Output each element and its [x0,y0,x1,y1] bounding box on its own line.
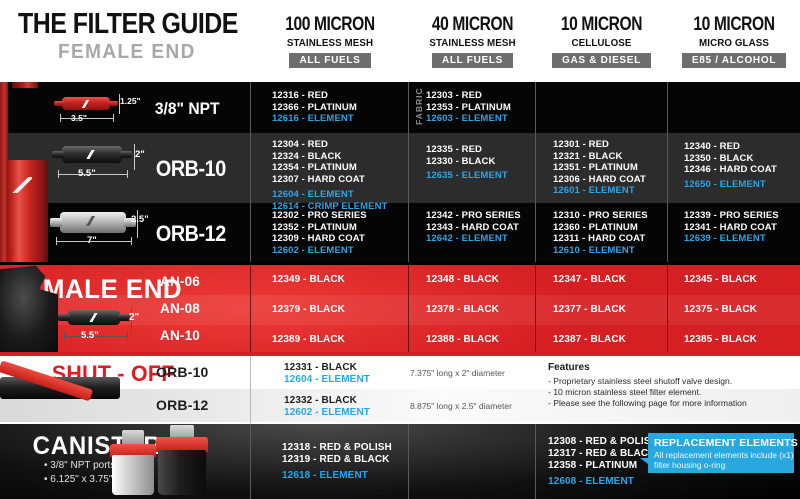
feature-item: - Proprietary stainless steel shutoff va… [548,376,732,386]
part-number: 12310 - PRO SERIES [553,210,648,222]
part-number: 12346 - HARD COAT [684,164,777,176]
column-divider [408,82,409,262]
part-number: 12388 - BLACK [426,334,512,346]
column-micron-label: 10 MICRON [548,14,655,36]
part-number: 12352 - PLATINUM [272,222,367,234]
cell-100micron-male: 12349 - BLACK 12379 - BLACK 12389 - BLAC… [272,274,358,352]
part-number-element: 12616 - ELEMENT [272,113,357,125]
size-label-orb12: 8.875" long x 2.5" diameter [410,401,512,411]
part-number-element: 12601 - ELEMENT [553,185,646,197]
part-number: 12349 - BLACK [272,274,358,286]
part-number: 12332 - BLACK [284,395,370,407]
dimension-length-label: 7" [87,235,97,246]
dimension-length-label: 5.5" [78,168,96,179]
filter-nipple-image [50,218,62,227]
column-divider [250,356,251,424]
part-number: 12347 - BLACK [553,274,639,286]
cell-40micron-orb10: 12335 - RED 12330 - BLACK 12635 - ELEMEN… [426,144,508,182]
canister-polish-body-image [112,455,154,495]
part-number: 12353 - PLATINUM [426,102,511,114]
part-number: 12345 - BLACK [684,274,770,286]
part-number: 12375 - BLACK [684,304,770,316]
column-divider [535,265,536,352]
part-number-element: 12642 - ELEMENT [426,233,521,245]
part-number: 12385 - BLACK [684,334,770,346]
part-number-element: 12650 - ELEMENT [684,179,777,191]
part-number: 12387 - BLACK [553,334,639,346]
cell-40micron-male: 12348 - BLACK 12378 - BLACK 12388 - BLAC… [426,274,512,352]
table-row [0,82,800,133]
female-end-section: 3.5" 1.25" 3/8" NPT 12316 - RED 12366 - … [0,82,800,262]
canister-spec-size: • 6.125" x 3.75" [44,474,112,485]
dimension-tick [64,332,65,340]
cell-100micron-canister: 12318 - RED & POLISH 12319 - RED & BLACK… [282,442,392,482]
column-micron-label: 10 MICRON [680,14,788,36]
part-number: 12303 - RED [426,90,511,102]
column-fuel-badge: ALL FUELS [289,53,370,68]
dimension-tick [60,114,61,122]
red-filter-housing-image [4,160,48,262]
column-divider [408,424,409,499]
left-accent-strip [0,82,8,262]
filter-guide-sheet: THE FILTER GUIDE FEMALE END 100 MICRON S… [0,0,800,499]
column-header-10-micron-cellulose: 10 MICRON CELLULOSE GAS & DIESEL [536,14,667,68]
column-divider [408,265,409,352]
column-divider [250,82,251,262]
part-number-element: 12618 - ELEMENT [282,470,392,482]
table-row [0,325,800,352]
feature-item: - 10 micron stainless steel filter eleme… [548,387,701,397]
column-header-40-micron: 40 MICRON STAINLESS MESH ALL FUELS [409,14,536,68]
column-header-100-micron: 100 MICRON STAINLESS MESH ALL FUELS [252,14,408,68]
dimension-diameter-label: 2" [129,312,139,323]
dimension-diameter-label: 2" [135,149,145,160]
column-material-label: MICRO GLASS [673,37,796,49]
part-number: 12324 - BLACK [272,151,387,163]
dimension-tick [58,170,59,178]
part-number: 12342 - PRO SERIES [426,210,521,222]
column-fuel-badge: E85 / ALCOHOL [682,53,786,68]
part-number: 12330 - BLACK [426,156,508,168]
dimension-diameter-label: 2.5" [131,214,149,225]
page-header: THE FILTER GUIDE FEMALE END 100 MICRON S… [0,0,800,82]
row-label-orb-12: ORB-12 [156,397,209,413]
callout-text: All replacement elements include (x1) fi… [654,450,794,470]
part-number: 12306 - HARD COAT [553,174,646,186]
part-number: 12331 - BLACK [284,362,370,374]
filter-nipple-image [52,151,64,158]
column-material-label: STAINLESS MESH [257,37,402,49]
dimension-length-label: 3.5" [71,113,87,123]
part-number: 12308 - RED & POLISH [548,436,658,448]
part-number: 12360 - PLATINUM [553,222,648,234]
row-label-orb-12: ORB-12 [156,221,226,247]
part-number: 12302 - PRO SERIES [272,210,367,222]
canister-bracket-image [122,430,144,445]
dimension-line [60,118,114,119]
male-end-section: MALE END AN-06 AN-08 AN-10 12349 - BLACK… [0,262,800,352]
part-number: 12341 - HARD COAT [684,222,779,234]
part-number: 12348 - BLACK [426,274,512,286]
cell-10micron-microglass-orb10: 12340 - RED 12350 - BLACK 12346 - HARD C… [684,141,777,190]
part-number: 12350 - BLACK [684,153,777,165]
column-header-10-micron-micro-glass: 10 MICRON MICRO GLASS E85 / ALCOHOL [668,14,800,68]
brand-logo-mark [86,313,100,322]
dimension-tick [131,237,132,245]
column-micron-label: 100 MICRON [266,14,394,36]
part-number-element: 12603 - ELEMENT [426,113,511,125]
dimension-tick [113,114,114,122]
part-number: 12335 - RED [426,144,508,156]
cell-100micron-38npt: 12316 - RED 12366 - PLATINUM 12616 - ELE… [272,90,357,125]
row-label-an-10: AN-10 [160,328,200,343]
part-number-element: 12602 - ELEMENT [272,245,367,257]
part-number: 12307 - HARD COAT [272,174,387,186]
filter-nipple-image [58,314,70,321]
part-number: 12339 - PRO SERIES [684,210,779,222]
dimension-tick [127,170,128,178]
column-micron-label: 40 MICRON [420,14,524,36]
canister-spec-ports: • 3/8" NPT ports. [44,460,118,471]
dimension-tick [56,237,57,245]
cell-10micron-microglass-orb12: 12339 - PRO SERIES 12341 - HARD COAT 126… [684,210,779,245]
brand-logo-mark [82,150,98,159]
size-label-orb10: 7.375" long x 2" diameter [410,368,505,378]
shut-off-section: SHUT - OFF ORB-10 ORB-12 12331 - BLACK 1… [0,352,800,424]
part-number-element: 12639 - ELEMENT [684,233,779,245]
part-number: 12304 - RED [272,139,387,151]
cell-100micron-orb10: 12304 - RED 12324 - BLACK 12354 - PLATIN… [272,139,387,212]
filter-nipple-image [120,151,132,158]
column-divider [535,82,536,262]
column-divider [667,265,668,352]
part-number: 12354 - PLATINUM [272,162,387,174]
row-label-orb-10: ORB-10 [156,156,226,182]
page-title: THE FILTER GUIDE [18,8,238,41]
brand-logo-mark [10,177,32,193]
cell-10micron-cellulose-orb12: 12310 - PRO SERIES 12360 - PLATINUM 1231… [553,210,648,256]
row-label-an-06: AN-06 [160,274,200,289]
section-title-female-end: FEMALE END [58,41,196,64]
part-number: 12311 - HARD COAT [553,233,648,245]
features-title: Features [548,362,590,373]
part-number: 12389 - BLACK [272,334,358,346]
cell-10micron-microglass-male: 12345 - BLACK 12375 - BLACK 12385 - BLAC… [684,274,770,352]
cell-10micron-cellulose-orb10: 12301 - RED 12321 - BLACK 12351 - PLATIN… [553,139,646,197]
cell-shutoff-orb12: 12332 - BLACK 12602 - ELEMENT [284,395,370,419]
brand-logo-mark [82,216,98,226]
part-number: 12351 - PLATINUM [553,162,646,174]
part-number: 12316 - RED [272,90,357,102]
part-number: 12319 - RED & BLACK [282,454,392,466]
part-number: 12301 - RED [553,139,646,151]
cell-shutoff-orb10: 12331 - BLACK 12604 - ELEMENT [284,362,370,386]
column-divider [667,82,668,262]
filter-nipple-image [108,101,118,106]
column-material-label: CELLULOSE [541,37,663,49]
cell-40micron-orb12: 12342 - PRO SERIES 12343 - HARD COAT 126… [426,210,521,245]
column-fuel-badge: ALL FUELS [432,53,513,68]
row-label-an-08: AN-08 [160,301,200,316]
part-number: 12366 - PLATINUM [272,102,357,114]
part-number: 12343 - HARD COAT [426,222,521,234]
canister-black-body-image [158,450,206,495]
row-label-38-npt: 3/8" NPT [155,99,220,119]
part-number-element: 12602 - ELEMENT [284,407,370,419]
fabric-tag-label: FABRIC [414,91,424,125]
part-number: 12378 - BLACK [426,304,512,316]
cell-40micron-38npt: 12303 - RED 12353 - PLATINUM 12603 - ELE… [426,90,511,125]
row-label-orb-10: ORB-10 [156,364,209,380]
filter-nipple-image [54,101,64,106]
part-number: 12340 - RED [684,141,777,153]
feature-item: - Please see the following page for more… [548,398,747,408]
column-divider [250,424,251,499]
part-number-element: 12608 - ELEMENT [548,476,658,488]
column-material-label: STAINLESS MESH [413,37,531,49]
part-number: 12379 - BLACK [272,304,358,316]
part-number-element: 12604 - ELEMENT [272,189,387,201]
brand-logo-mark [78,100,92,108]
part-number-element: 12635 - ELEMENT [426,170,508,182]
part-number: 12377 - BLACK [553,304,639,316]
column-divider [250,265,251,352]
dimension-length-label: 5.5" [81,330,99,341]
column-divider [535,424,536,499]
part-number: 12318 - RED & POLISH [282,442,392,454]
cell-10micron-cellulose-male: 12347 - BLACK 12377 - BLACK 12387 - BLAC… [553,274,639,352]
part-number: 12309 - HARD COAT [272,233,367,245]
column-fuel-badge: GAS & DIESEL [552,53,651,68]
part-number-element: 12610 - ELEMENT [553,245,648,257]
part-number-element: 12604 - ELEMENT [284,374,370,386]
dimension-tick [127,332,128,340]
table-row [0,133,800,203]
part-number: 12321 - BLACK [553,151,646,163]
cell-100micron-orb12: 12302 - PRO SERIES 12352 - PLATINUM 1230… [272,210,367,256]
red-filter-cap-image [12,82,38,88]
dimension-diameter-label: 1.25" [120,96,141,106]
callout-title: REPLACEMENT ELEMENTS [654,437,798,449]
